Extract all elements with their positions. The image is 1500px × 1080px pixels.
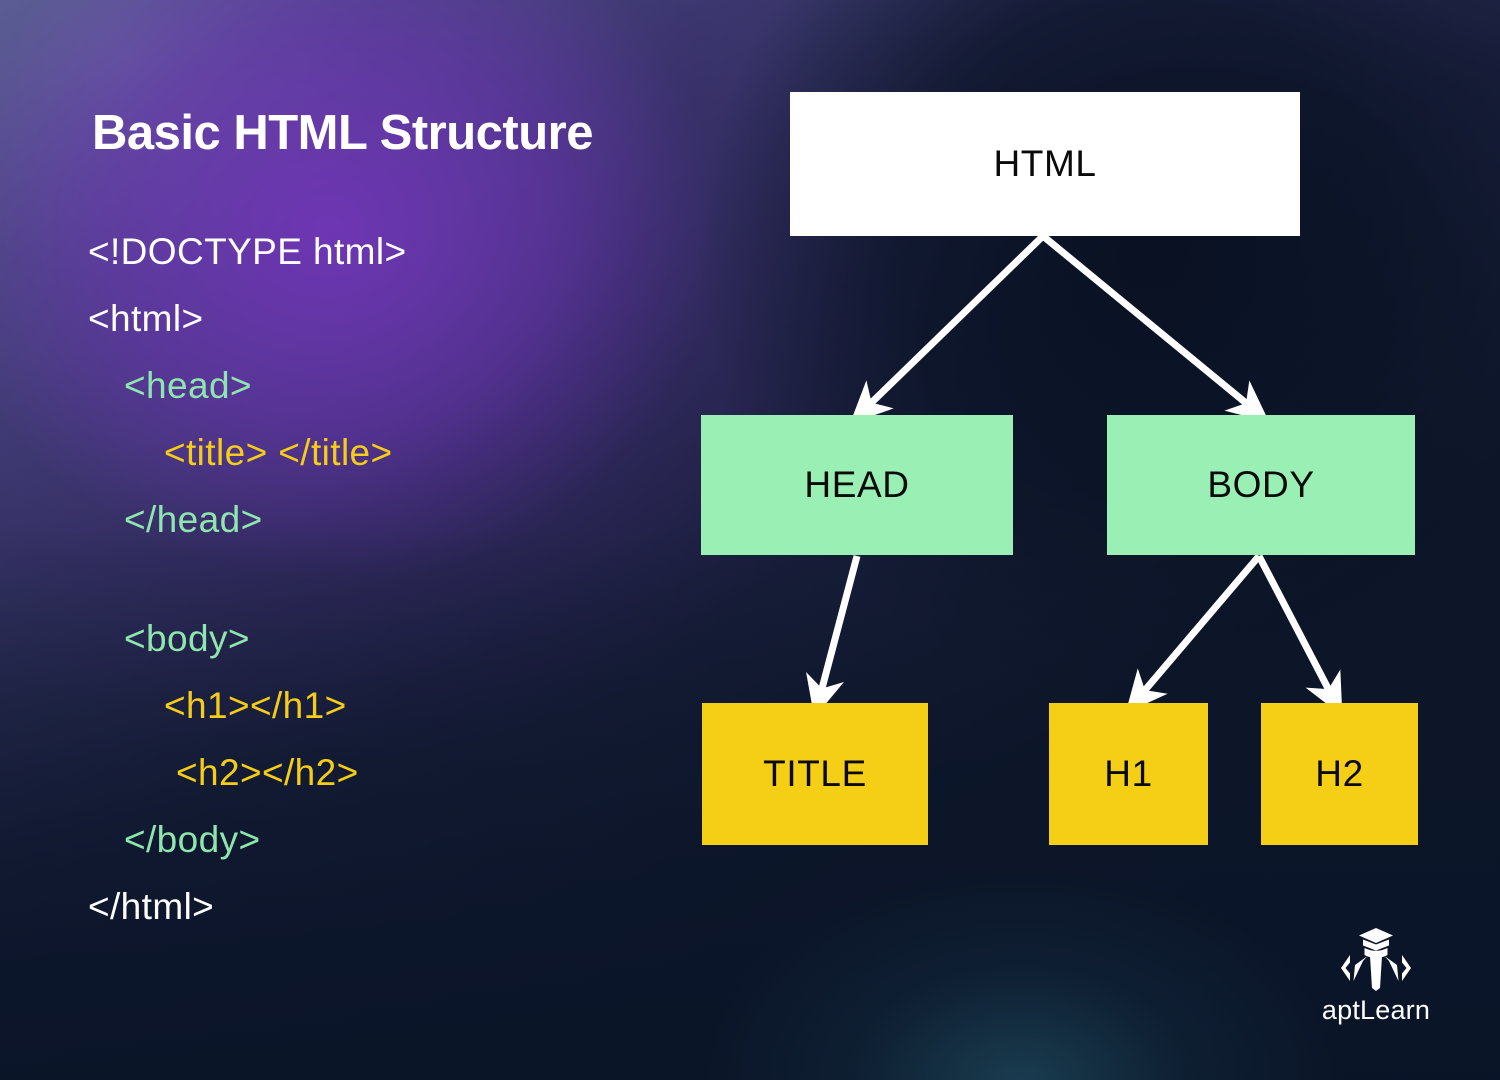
- tree-node-html-label: HTML: [993, 143, 1096, 185]
- tree-node-h1[interactable]: H1: [1049, 703, 1208, 845]
- edge-html-to-body: [1043, 236, 1252, 408]
- edge-html-to-head: [866, 236, 1043, 408]
- edge-body-to-h1: [1140, 556, 1259, 696]
- edge-body-to-h2: [1259, 556, 1332, 696]
- aptlearn-logo: aptLearn: [1312, 925, 1440, 1035]
- tree-node-h1-label: H1: [1104, 753, 1153, 795]
- tree-node-body-label: BODY: [1207, 464, 1314, 506]
- html-structure-tree-diagram: HTML HEAD BODY TITLE H1 H2: [0, 0, 1500, 1080]
- slide-canvas: Basic HTML Structure <!DOCTYPE html> <ht…: [0, 0, 1500, 1080]
- tree-node-title-label: TITLE: [763, 753, 867, 795]
- tree-node-h2[interactable]: H2: [1261, 703, 1418, 845]
- tree-node-body[interactable]: BODY: [1107, 415, 1415, 555]
- aptlearn-wordmark: aptLearn: [1322, 995, 1430, 1026]
- edge-head-to-title: [820, 556, 857, 696]
- tree-node-head-label: HEAD: [804, 464, 909, 506]
- tree-node-head[interactable]: HEAD: [701, 415, 1013, 555]
- tree-node-html[interactable]: HTML: [790, 92, 1300, 236]
- tree-node-h2-label: H2: [1315, 753, 1364, 795]
- graduate-code-brackets-icon: [1330, 925, 1422, 991]
- tree-node-title[interactable]: TITLE: [702, 703, 928, 845]
